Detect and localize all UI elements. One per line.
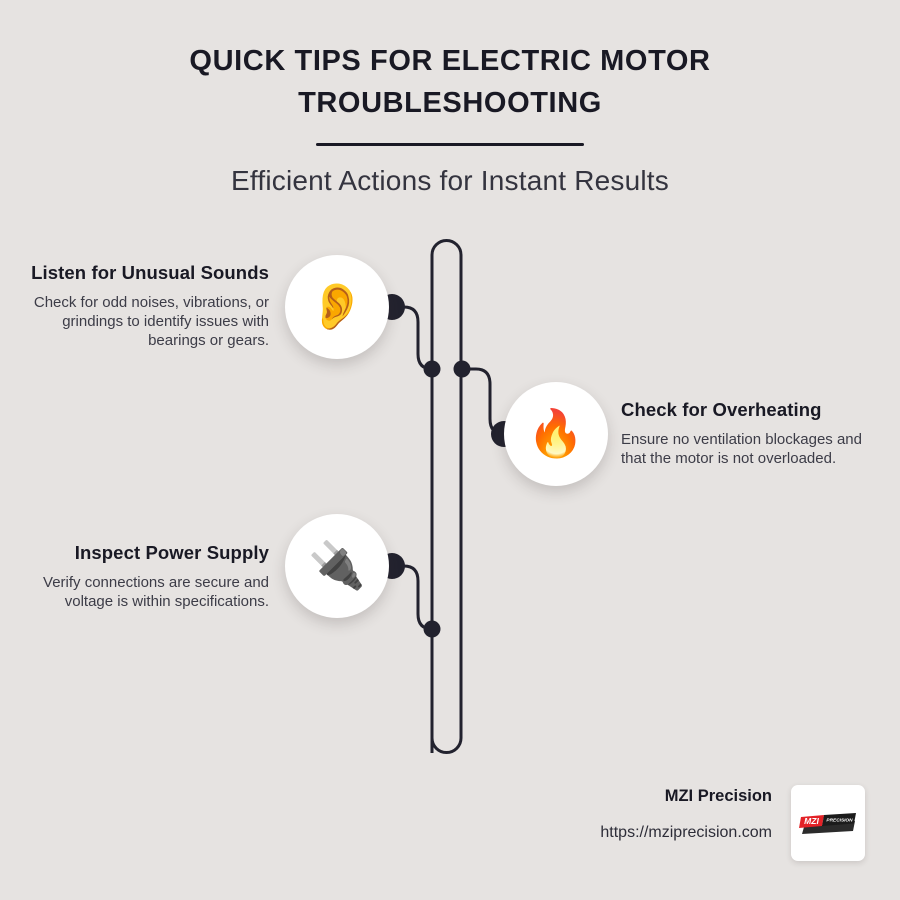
- tip-inspect-power-supply: Inspect Power Supply Verify connections …: [28, 541, 269, 611]
- page-subtitle: Efficient Actions for Instant Results: [0, 165, 900, 197]
- node-dot-rail-3: [424, 621, 441, 638]
- tip-check-for-overheating: Check for Overheating Ensure no ventilat…: [621, 398, 871, 468]
- node-dot-rail-1: [424, 361, 441, 378]
- title-divider: [316, 143, 584, 146]
- brand-name: MZI Precision: [542, 786, 772, 806]
- logo-primary-text: MZI: [804, 816, 819, 826]
- branch-tip-1: [392, 307, 432, 369]
- tip-title: Check for Overheating: [621, 398, 871, 421]
- branch-tip-3: [392, 566, 432, 629]
- icon-circle-tip-1[interactable]: 👂: [285, 255, 389, 359]
- fire-icon: 🔥: [527, 410, 584, 456]
- header: QUICK TIPS FOR ELECTRIC MOTOR TROUBLESHO…: [0, 40, 900, 197]
- tip-title: Listen for Unusual Sounds: [28, 261, 269, 284]
- spine-stadium: [432, 241, 461, 754]
- footer-text-block: MZI Precision https://mziprecision.com: [542, 786, 772, 843]
- brand-url[interactable]: https://mziprecision.com: [542, 823, 772, 843]
- infographic-canvas: QUICK TIPS FOR ELECTRIC MOTOR TROUBLESHO…: [0, 0, 900, 900]
- mzi-precision-logo: MZI PRECISION: [799, 811, 857, 835]
- tip-listen-for-unusual-sounds: Listen for Unusual Sounds Check for odd …: [28, 261, 269, 350]
- footer: MZI Precision https://mziprecision.com M…: [505, 786, 865, 862]
- tip-description: Verify connections are secure and voltag…: [28, 573, 269, 611]
- ear-icon: 👂: [308, 283, 365, 329]
- page-title: QUICK TIPS FOR ELECTRIC MOTOR TROUBLESHO…: [170, 40, 730, 124]
- node-dot-rail-2: [454, 361, 471, 378]
- logo-card: MZI PRECISION: [791, 785, 865, 861]
- tip-description: Ensure no ventilation blockages and that…: [621, 430, 871, 468]
- icon-circle-tip-2[interactable]: 🔥: [504, 382, 608, 486]
- logo-secondary-text: PRECISION: [826, 818, 853, 824]
- electric-plug-icon: 🔌: [308, 542, 365, 588]
- icon-circle-tip-3[interactable]: 🔌: [285, 514, 389, 618]
- branch-tip-2: [461, 369, 504, 434]
- tip-title: Inspect Power Supply: [28, 541, 269, 564]
- tip-description: Check for odd noises, vibrations, or gri…: [28, 293, 269, 350]
